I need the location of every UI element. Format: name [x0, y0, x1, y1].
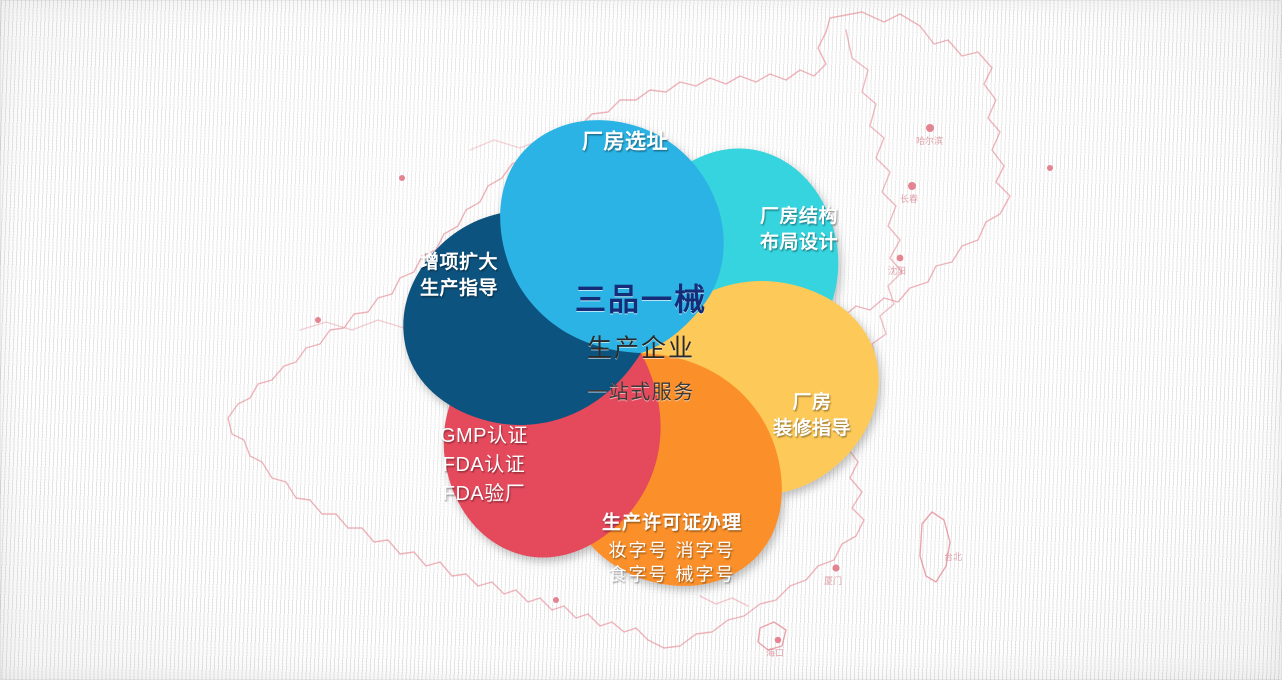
- svg-text:台北: 台北: [944, 551, 962, 562]
- six-petal-ring-diagram: [341, 53, 941, 653]
- infographic-canvas: 哈尔滨 长春 沈阳 青岛 厦门 海口 台北: [0, 0, 1282, 680]
